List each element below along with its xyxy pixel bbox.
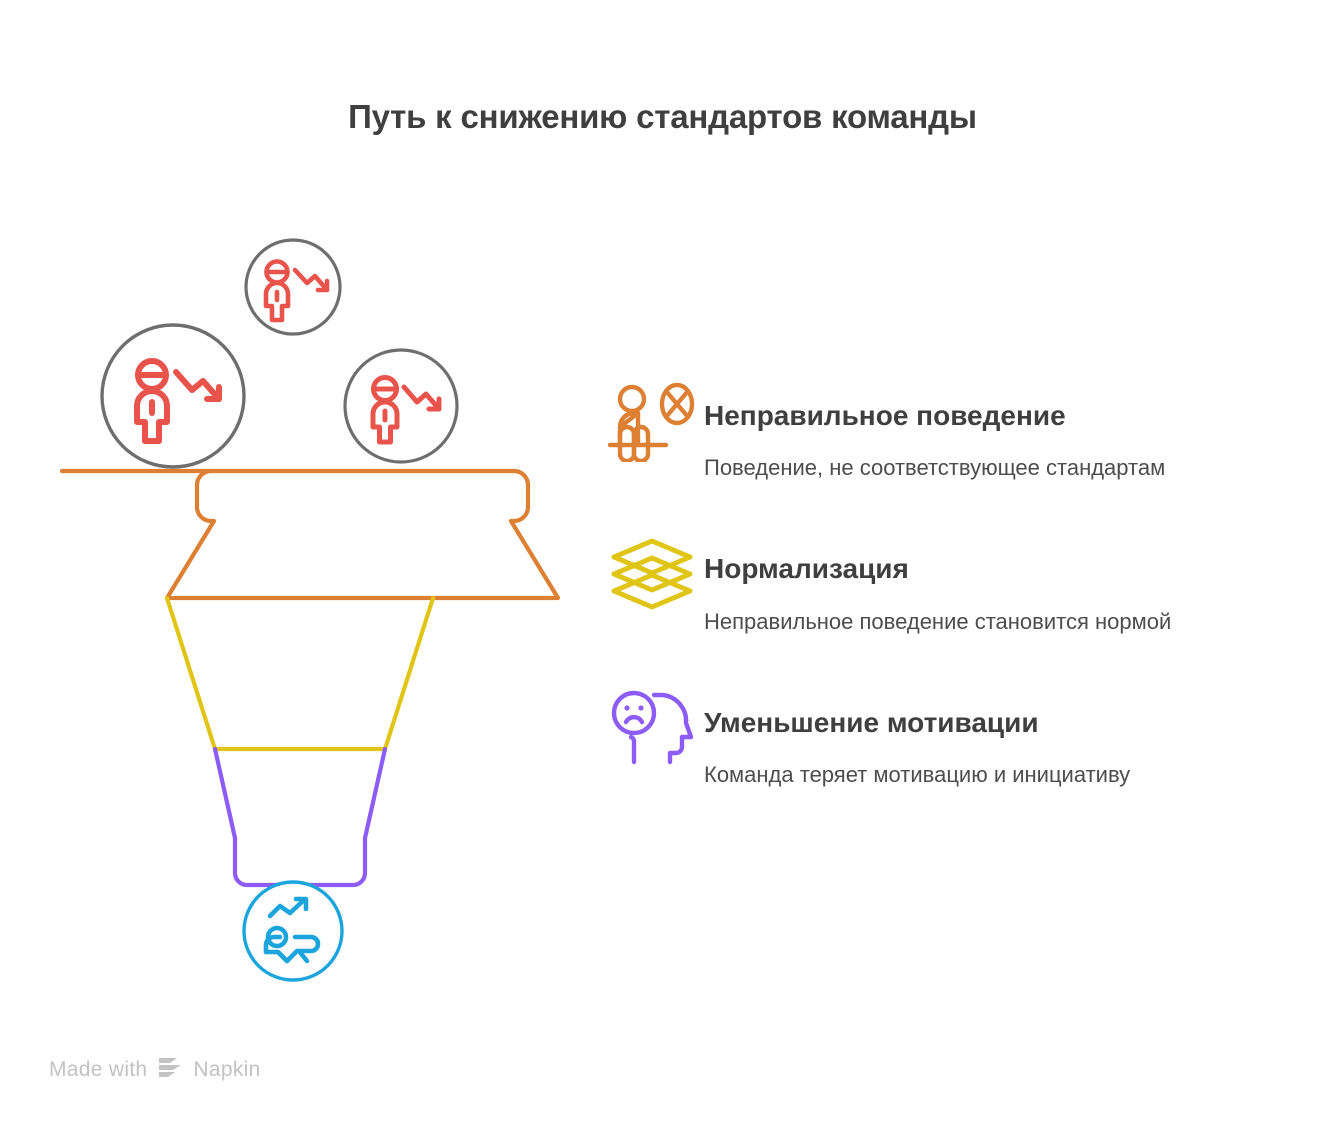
legend-icon-1	[608, 378, 704, 467]
funnel-segment-1	[62, 471, 558, 598]
funnel-outcome-node	[244, 882, 342, 980]
legend-description-3: Команда теряет мотивацию и инициативу	[704, 759, 1249, 790]
legend-list: Неправильное поведение Поведение, не соо…	[608, 378, 1308, 838]
legend-description-1: Поведение, не соответствующее стандартам	[704, 452, 1249, 483]
napkin-logo-icon	[157, 1056, 183, 1084]
legend-text-1: Неправильное поведение Поведение, не соо…	[704, 378, 1308, 483]
legend-icon-3	[608, 685, 704, 774]
legend-text-2: Нормализация Неправильное поведение стан…	[704, 531, 1308, 636]
input-node-right	[345, 350, 457, 462]
input-node-center	[246, 240, 340, 334]
funnel-diagram	[0, 200, 600, 1020]
funnel-segment-3	[215, 749, 385, 885]
napkin-brand-label: Napkin	[193, 1058, 260, 1082]
legend-item-wrong-behavior: Неправильное поведение Поведение, не соо…	[608, 378, 1308, 483]
legend-heading-2: Нормализация	[704, 553, 1308, 585]
legend-item-motivation-decline: Уменьшение мотивации Команда теряет моти…	[608, 685, 1308, 790]
legend-icon-2	[608, 531, 704, 620]
sad-face-head-icon	[608, 689, 704, 769]
legend-text-3: Уменьшение мотивации Команда теряет моти…	[704, 685, 1308, 790]
stacked-layers-icon	[608, 535, 704, 615]
legend-heading-1: Неправильное поведение	[704, 400, 1308, 432]
made-with-label: Made with	[49, 1058, 147, 1082]
legend-item-normalization: Нормализация Неправильное поведение стан…	[608, 531, 1308, 636]
input-node-left	[102, 325, 244, 467]
footer-brand: Made with Napkin	[49, 1056, 261, 1084]
page-title: Путь к снижению стандартов команды	[0, 98, 1325, 136]
legend-description-2: Неправильное поведение становится нормой	[704, 606, 1249, 637]
legend-heading-3: Уменьшение мотивации	[704, 707, 1308, 739]
person-prohibited-icon	[608, 382, 704, 462]
